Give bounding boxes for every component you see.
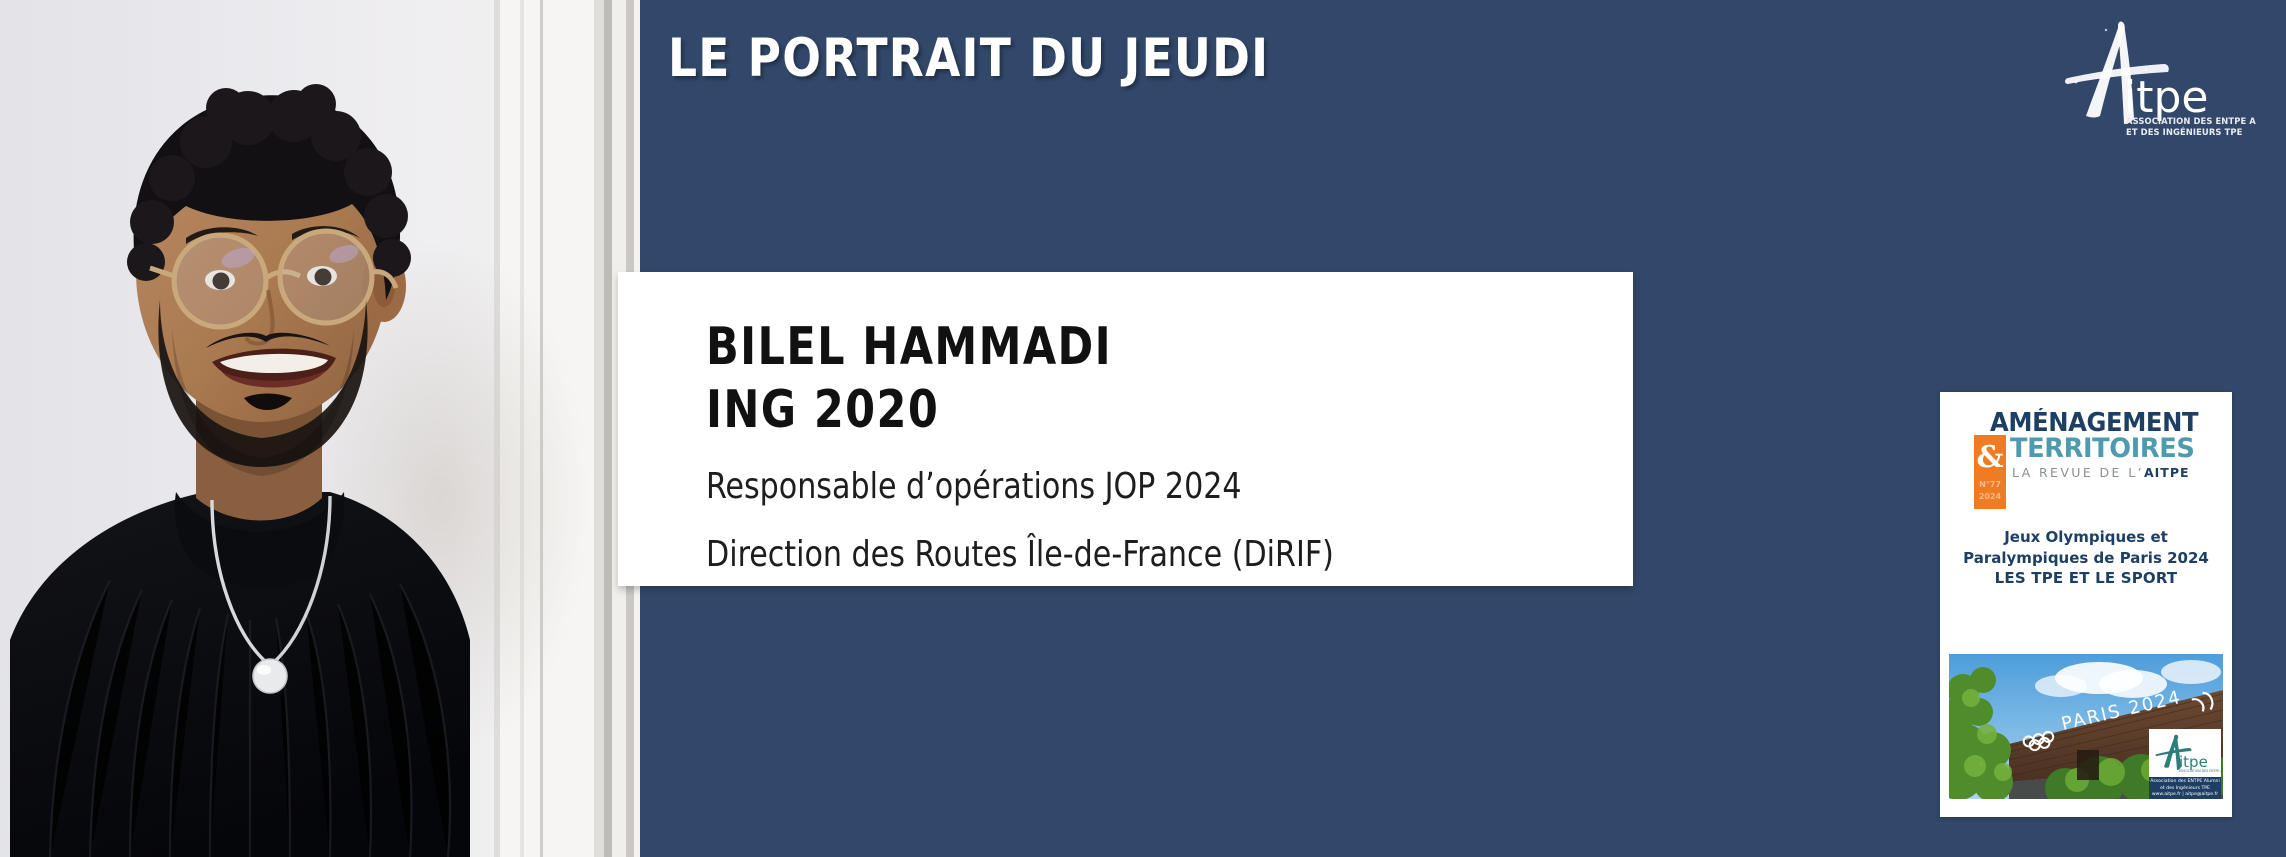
magazine-logo-footer: Association des ENTPE Alumni et des Ingé… [2149, 777, 2221, 799]
person-name-line2: ING 2020 [706, 379, 1559, 442]
magazine-subtitle-prefix: LA REVUE DE L’ [2012, 465, 2144, 480]
aitpe-logo-mark: itpe ASSOCIATION DES ENTPE ALUMNI ET DES… [2046, 12, 2256, 137]
magazine-issue-number: N°77 2024 [1974, 479, 2006, 502]
magazine-masthead: AMÉNAGEMENT & N°77 2024 TERRITOIRES LA R… [1954, 403, 2218, 511]
magazine-footer-line1: Association des ENTPE Alumni [2150, 779, 2219, 784]
aitpe-tagline-line1: ASSOCIATION DES ENTPE ALUMNI [2126, 116, 2256, 126]
magazine-masthead-area: AMÉNAGEMENT & N°77 2024 TERRITOIRES LA R… [1940, 392, 2232, 589]
person-role-line1: Responsable d’opérations JOP 2024 [706, 464, 1568, 510]
slide-root: LE PORTRAIT DU JEUDI itpe ASSOCIATION DE… [0, 0, 2286, 857]
magazine-aitpe-mini-logo: itpe ASSOCIATION DES ENTPE ALUMNI [2149, 729, 2221, 777]
magazine-cover-photo: PARIS 2024 [1949, 654, 2223, 799]
portrait-illustration [0, 0, 640, 857]
page-title: LE PORTRAIT DU JEUDI [668, 28, 1269, 89]
portrait-photo [0, 0, 640, 857]
magazine-aitpe-logo-box: itpe ASSOCIATION DES ENTPE ALUMNI Associ… [2149, 729, 2221, 799]
magazine-issue-year-text: 2024 [1979, 492, 2001, 501]
magazine-title-territoires: TERRITOIRES [2010, 433, 2194, 464]
magazine-headline: Jeux Olympiques et Paralympiques de Pari… [1940, 527, 2232, 589]
magazine-mini-tagline: ASSOCIATION DES ENTPE ALUMNI [2179, 769, 2221, 773]
aitpe-logo: itpe ASSOCIATION DES ENTPE ALUMNI ET DES… [2046, 12, 2256, 137]
magazine-subtitle: LA REVUE DE L’AITPE [2012, 465, 2190, 480]
magazine-headline-line3: LES TPE ET LE SPORT [1948, 568, 2224, 589]
magazine-headline-line1: Jeux Olympiques et [1948, 527, 2224, 548]
magazine-footer-line3: www.aitpe.fr | aitpe@aitpe.fr [2152, 792, 2218, 797]
magazine-issue-num-text: N°77 [1979, 480, 2001, 489]
magazine-footer-line2: et des Ingénieurs TPE [2160, 786, 2210, 791]
person-name-line1: BILEL HAMMADI [706, 316, 1559, 379]
name-card-content: BILEL HAMMADI ING 2020 Responsable d’opé… [618, 272, 1633, 579]
magazine-ampersand: & [1974, 443, 2006, 473]
person-role-line2: Direction des Routes Île-de-France (DiRI… [706, 532, 1568, 578]
magazine-cover: AMÉNAGEMENT & N°77 2024 TERRITOIRES LA R… [1940, 392, 2232, 817]
magazine-subtitle-brand: AITPE [2144, 465, 2190, 480]
magazine-headline-line2: Paralympiques de Paris 2024 [1948, 548, 2224, 569]
aitpe-tagline-line2: ET DES INGÉNIEURS TPE [2126, 126, 2243, 137]
name-card: BILEL HAMMADI ING 2020 Responsable d’opé… [618, 272, 1633, 586]
magazine-issue-badge: & N°77 2024 [1974, 435, 2006, 509]
